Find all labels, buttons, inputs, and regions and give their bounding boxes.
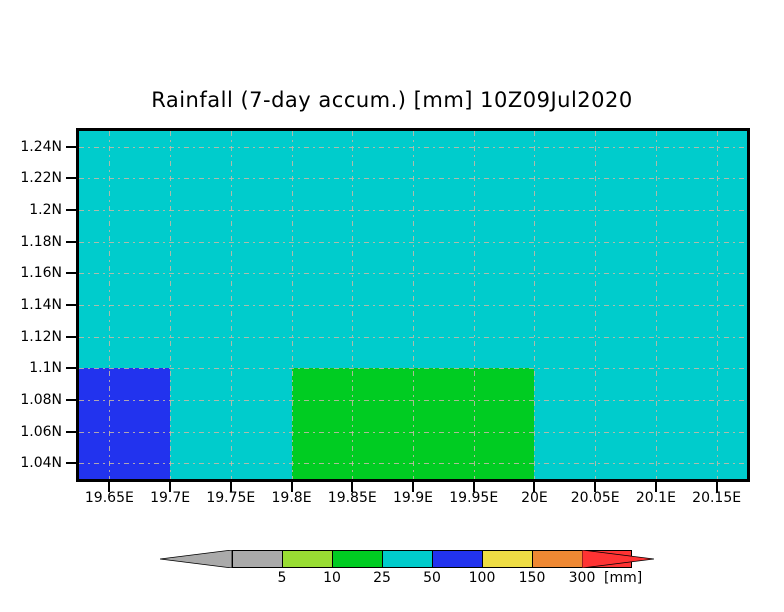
y-axis-tick [66, 336, 76, 338]
y-axis-label: 1.18N [20, 235, 62, 249]
gridline-horizontal [79, 368, 747, 369]
plot-inner [79, 131, 747, 479]
y-axis-tick [66, 367, 76, 369]
gridline-horizontal [79, 432, 747, 433]
y-axis-tick [66, 399, 76, 401]
gridline-horizontal [79, 400, 747, 401]
colorbar-segment [532, 550, 582, 568]
colorbar-segment [232, 550, 282, 568]
colorbar-segments [232, 550, 632, 568]
page-title: Rainfall (7-day accum.) [mm] 10Z09Jul202… [0, 88, 784, 112]
y-axis-label: 1.16N [20, 266, 62, 280]
colorbar-left-arrow-icon [160, 550, 232, 568]
y-axis-label: 1.04N [20, 456, 62, 470]
y-axis-label: 1.08N [20, 393, 62, 407]
y-axis-tick [66, 462, 76, 464]
colorbar-tick-label: 300 [562, 570, 602, 586]
y-axis-label: 1.2N [29, 203, 62, 217]
colorbar-segment [282, 550, 332, 568]
x-axis-label: 20.15E [677, 490, 757, 506]
y-axis-label: 1.24N [20, 140, 62, 154]
colorbar: [mm] 5102550100150300 [0, 544, 784, 604]
y-axis-label: 1.14N [20, 298, 62, 312]
colorbar-segment [432, 550, 482, 568]
gridline-horizontal [79, 463, 747, 464]
colorbar-unit-label: [mm] [604, 570, 642, 586]
colorbar-segment [332, 550, 382, 568]
colorbar-segment [482, 550, 532, 568]
gridline-horizontal [79, 305, 747, 306]
y-axis-label: 1.1N [29, 361, 62, 375]
gridline-horizontal [79, 210, 747, 211]
colorbar-tick-label: 100 [462, 570, 502, 586]
y-axis-tick [66, 241, 76, 243]
colorbar-tick-label: 5 [262, 570, 302, 586]
gridline-horizontal [79, 337, 747, 338]
rainfall-chart: Rainfall (7-day accum.) [mm] 10Z09Jul202… [0, 0, 784, 612]
colorbar-right-arrow-icon [582, 550, 654, 568]
y-axis-label: 1.22N [20, 171, 62, 185]
plot-area [76, 128, 750, 482]
y-axis-tick [66, 304, 76, 306]
gridline-horizontal [79, 147, 747, 148]
colorbar-tick-label: 50 [412, 570, 452, 586]
y-axis-tick [66, 209, 76, 211]
y-axis-tick [66, 272, 76, 274]
colorbar-tick-label: 25 [362, 570, 402, 586]
y-axis-label: 1.12N [20, 330, 62, 344]
colorbar-tick-label: 150 [512, 570, 552, 586]
y-axis-label: 1.06N [20, 425, 62, 439]
gridline-horizontal [79, 178, 747, 179]
y-axis-tick [66, 431, 76, 433]
y-axis-tick [66, 177, 76, 179]
gridline-horizontal [79, 242, 747, 243]
colorbar-tick-label: 10 [312, 570, 352, 586]
y-axis-tick [66, 146, 76, 148]
gridline-horizontal [79, 273, 747, 274]
colorbar-segment [382, 550, 432, 568]
